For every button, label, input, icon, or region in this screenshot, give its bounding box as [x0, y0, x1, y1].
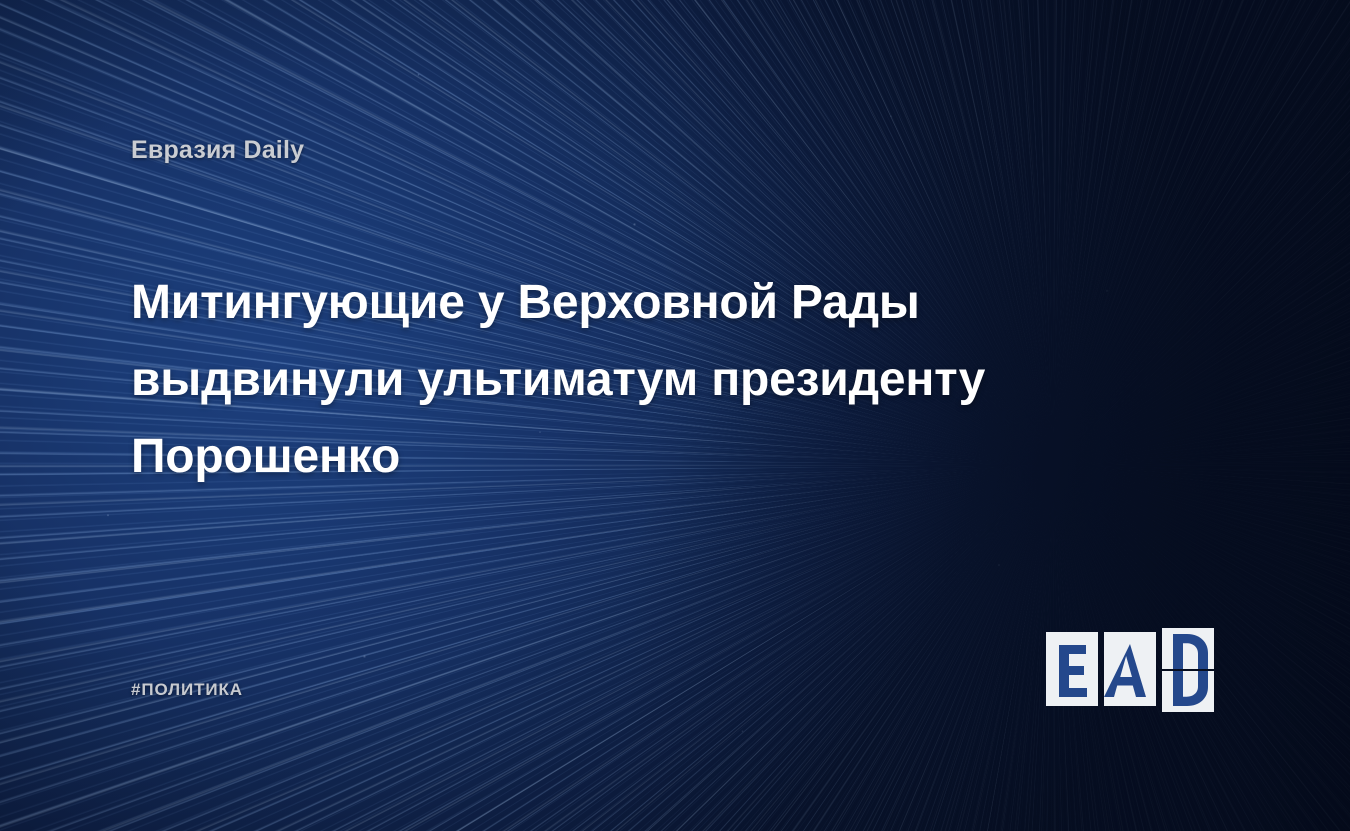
logo-tile-d-lower: [1162, 671, 1214, 712]
eadaily-logo[interactable]: [1046, 628, 1224, 706]
brand-name: Евразия Daily: [131, 136, 304, 165]
headline: Митингующие у Верховной Рады выдвинули у…: [131, 264, 1121, 495]
card-content: Евразия Daily Митингующие у Верховной Ра…: [0, 0, 1350, 831]
category-tag: #ПОЛИТИКА: [131, 680, 243, 700]
news-card: Евразия Daily Митингующие у Верховной Ра…: [0, 0, 1350, 831]
logo-tile-a: [1104, 632, 1156, 706]
logo-tile-d-upper: [1162, 628, 1214, 669]
logo-tile-e: [1046, 632, 1098, 706]
